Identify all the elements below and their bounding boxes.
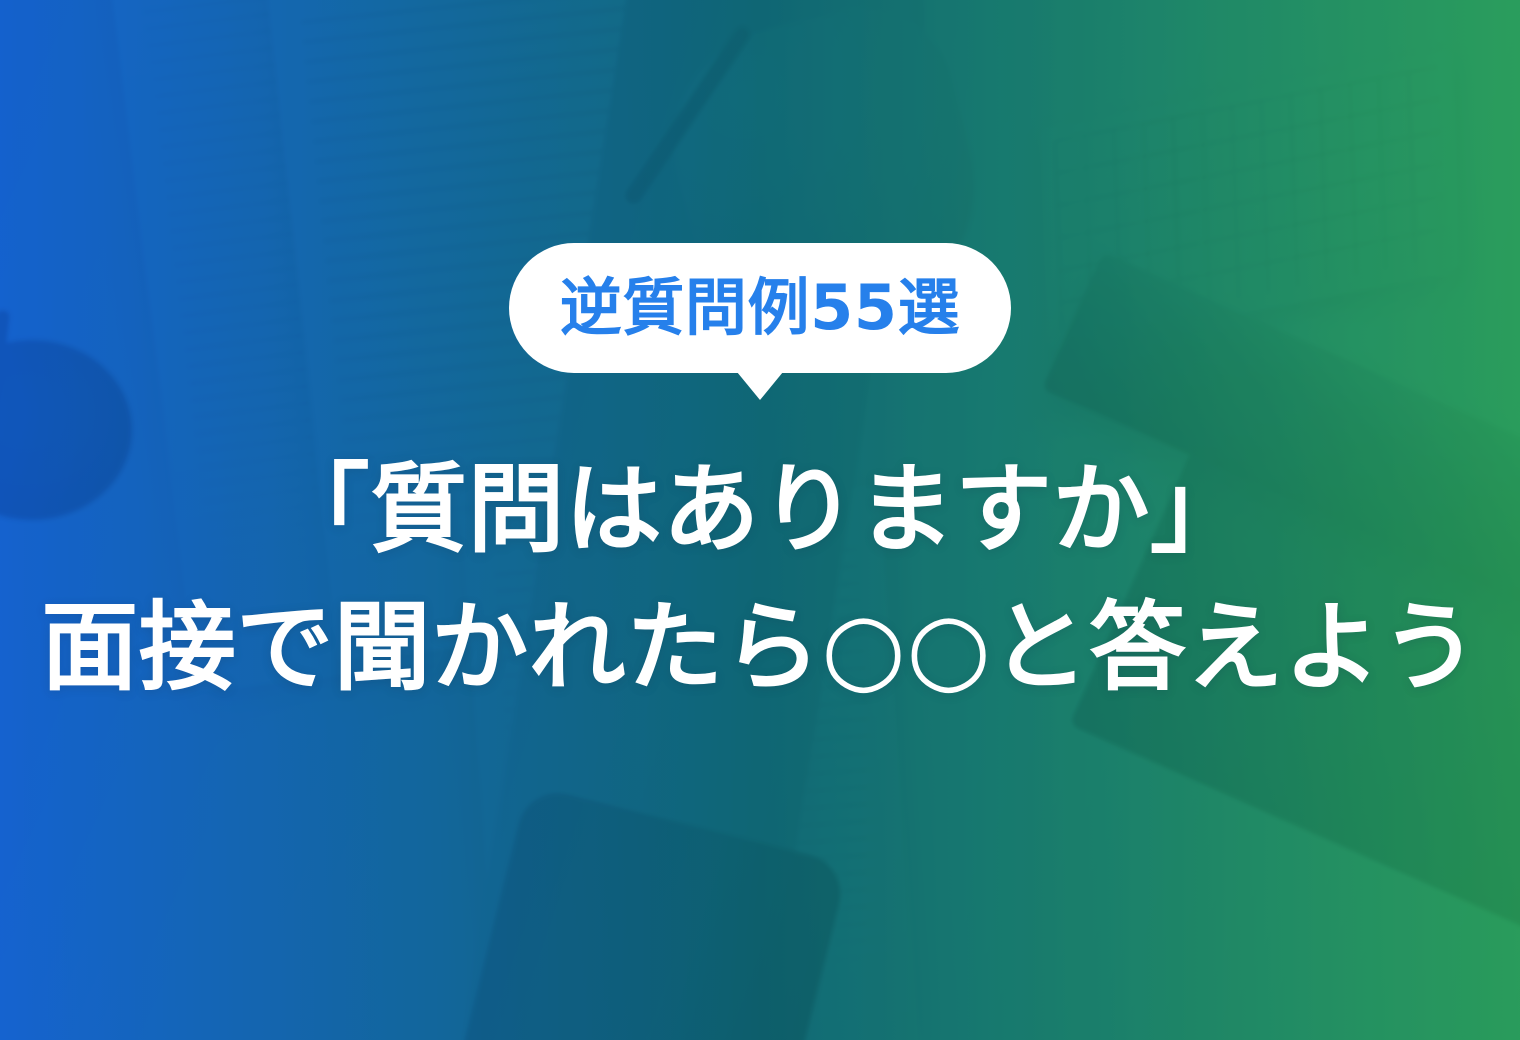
banner-content: 逆質問例55選 「質問はありますか」 面接で聞かれたら○○と答えよう (0, 0, 1520, 1040)
speech-bubble-badge: 逆質問例55選 (509, 243, 1011, 373)
badge-container: 逆質問例55選 (509, 243, 1011, 373)
speech-bubble-tail-icon (737, 372, 783, 400)
headline-line-1: 「質問はありますか」 (0, 452, 1520, 568)
banner: 逆質問例55選 「質問はありますか」 面接で聞かれたら○○と答えよう (0, 0, 1520, 1040)
headline-line-2: 面接で聞かれたら○○と答えよう (0, 590, 1520, 706)
headline: 「質問はありますか」 面接で聞かれたら○○と答えよう (0, 452, 1520, 707)
badge-label: 逆質問例55選 (560, 277, 961, 339)
